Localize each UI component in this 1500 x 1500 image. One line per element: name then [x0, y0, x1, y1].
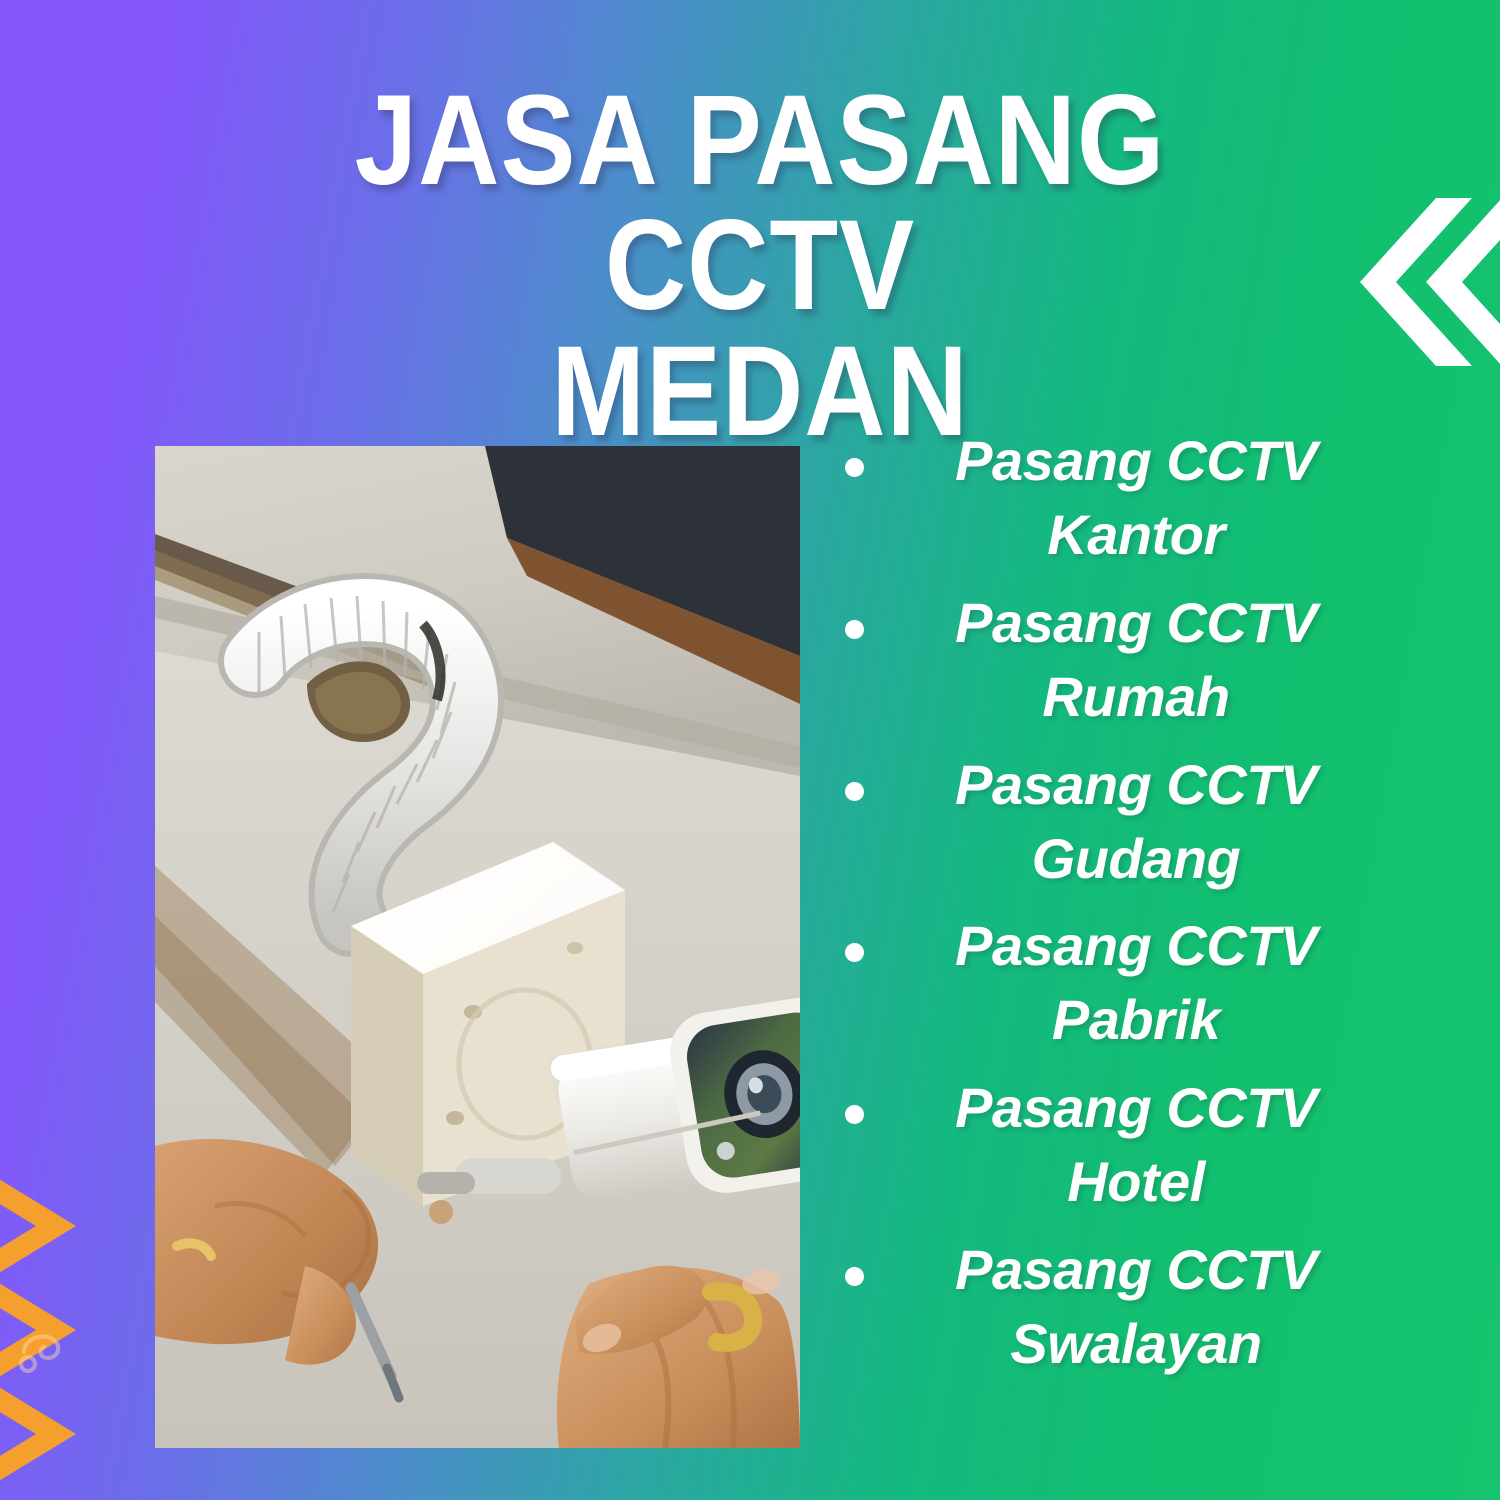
bullet-dot-icon	[845, 458, 864, 477]
page-title: JASA PASANG CCTV MEDAN	[197, 78, 1323, 454]
list-item-label: Pasang CCTV Rumah	[882, 586, 1390, 734]
chevron-left-icon	[1344, 192, 1500, 372]
list-item-label: Pasang CCTV Gudang	[882, 748, 1390, 896]
bullet-dot-icon	[845, 943, 864, 962]
services-list: Pasang CCTV Kantor Pasang CCTV Rumah Pas…	[845, 424, 1390, 1395]
bullet-dot-icon	[845, 1105, 864, 1124]
watermark-icon	[10, 1318, 80, 1388]
bullet-dot-icon	[845, 620, 864, 639]
list-item[interactable]: Pasang CCTV Hotel	[845, 1071, 1390, 1219]
chevron-right-icon	[0, 1170, 134, 1500]
list-item[interactable]: Pasang CCTV Kantor	[845, 424, 1390, 572]
list-item[interactable]: Pasang CCTV Rumah	[845, 586, 1390, 734]
list-item-label: Pasang CCTV Swalayan	[882, 1233, 1390, 1381]
list-item[interactable]: Pasang CCTV Pabrik	[845, 909, 1390, 1057]
list-item[interactable]: Pasang CCTV Swalayan	[845, 1233, 1390, 1381]
list-item-label: Pasang CCTV Kantor	[882, 424, 1390, 572]
bullet-dot-icon	[845, 1267, 864, 1286]
list-item[interactable]: Pasang CCTV Gudang	[845, 748, 1390, 896]
list-item-label: Pasang CCTV Pabrik	[882, 909, 1390, 1057]
poster-canvas: JASA PASANG CCTV MEDAN	[0, 0, 1500, 1500]
bullet-dot-icon	[845, 782, 864, 801]
cctv-installation-photo	[155, 446, 800, 1448]
list-item-label: Pasang CCTV Hotel	[882, 1071, 1390, 1219]
